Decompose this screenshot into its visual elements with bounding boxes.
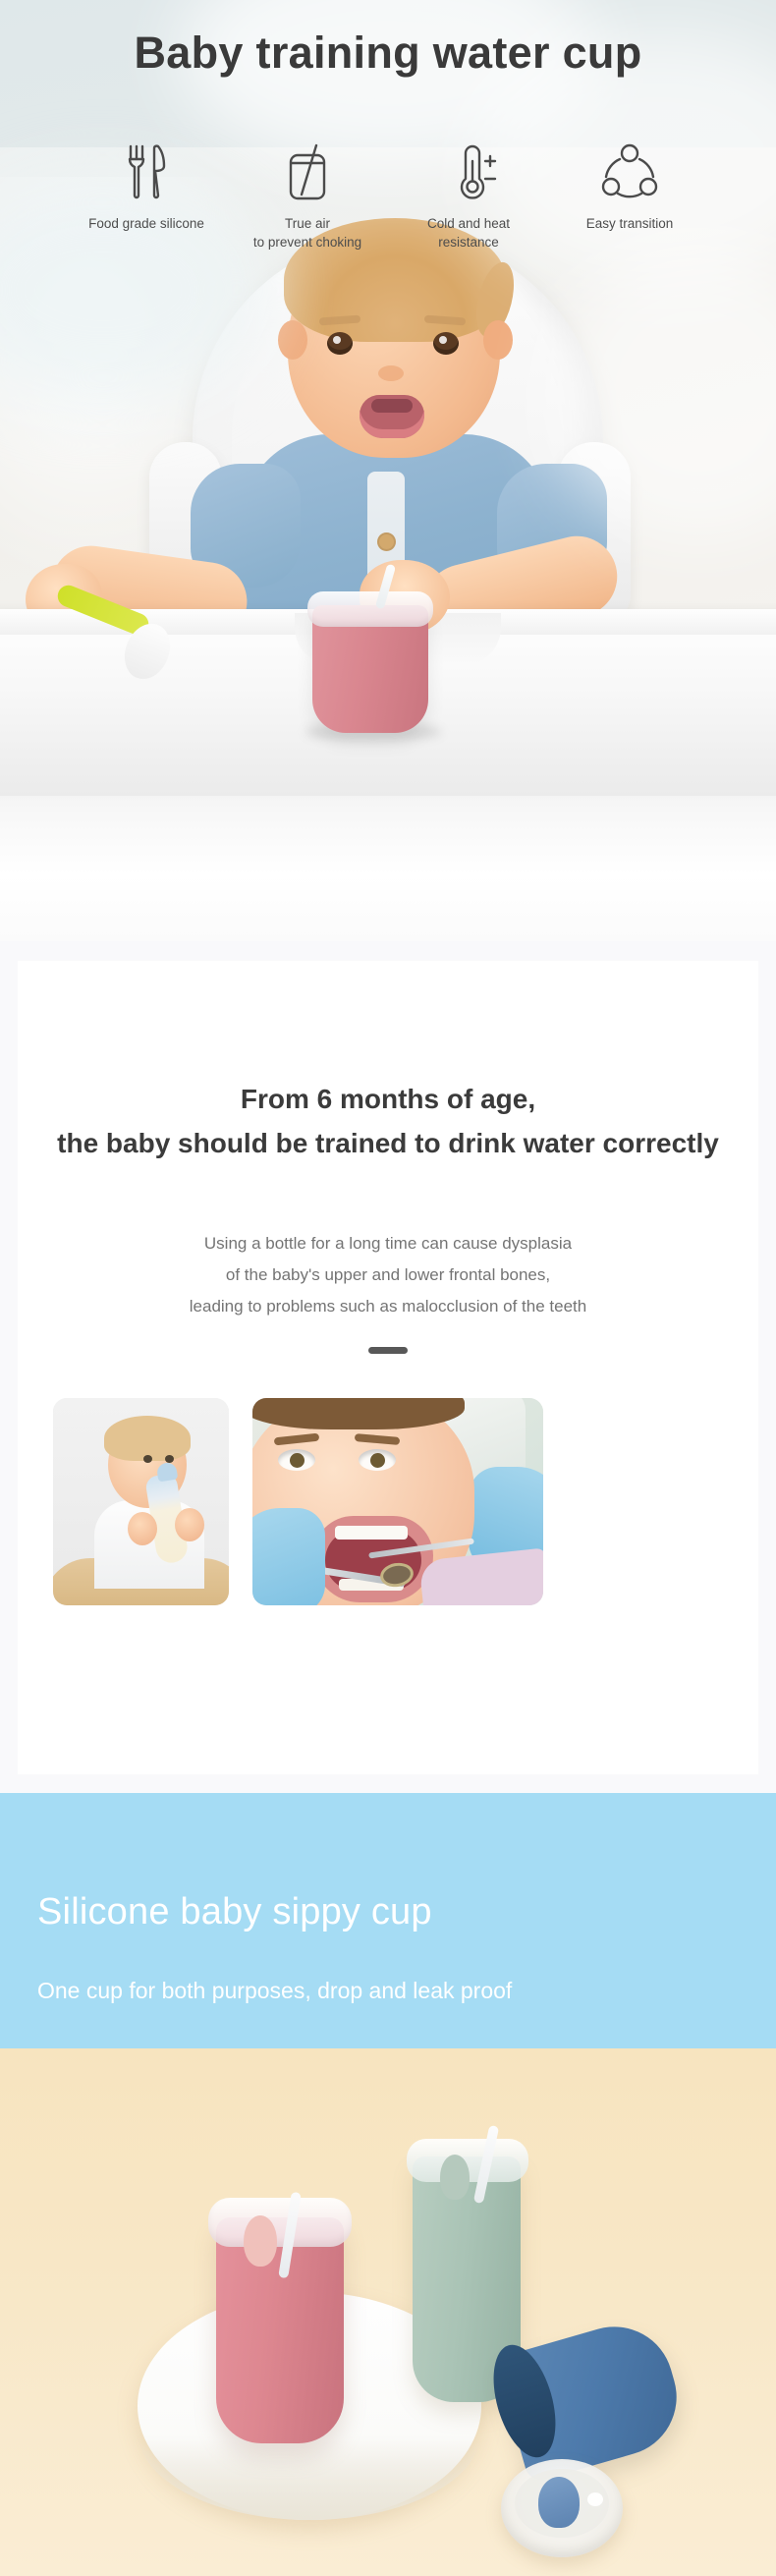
baby-ear-right <box>483 320 513 360</box>
info-heading: From 6 months of age, the baby should be… <box>18 1077 758 1165</box>
info-body-line3: leading to problems such as malocclusion… <box>18 1291 758 1322</box>
cycle-transition-icon <box>599 138 660 208</box>
baby-eye-left <box>143 1455 152 1463</box>
baby-eye-left <box>327 332 353 355</box>
dental-exam-photo <box>252 1398 543 1605</box>
hero-photo <box>0 147 776 941</box>
product-photo-section <box>0 2048 776 2576</box>
detached-lid-blue-valve <box>538 2477 580 2528</box>
baby-eye-right <box>433 332 459 355</box>
banner-subtitle: One cup for both purposes, drop and leak… <box>37 1978 512 2004</box>
section-divider <box>368 1347 408 1354</box>
feature-label: Cold and heat resistance <box>427 214 510 252</box>
pink-cup-valve <box>244 2215 277 2267</box>
baby-with-bottle-photo <box>53 1398 229 1605</box>
green-cup-valve <box>440 2155 470 2200</box>
dress-button <box>377 532 396 551</box>
pink-sippy-cup <box>216 2217 344 2443</box>
tray-front-panel <box>0 776 776 941</box>
baby-ear-left <box>278 320 307 360</box>
feature-label: Food grade silicone <box>88 214 204 233</box>
info-body-line1: Using a bottle for a long time can cause… <box>18 1228 758 1260</box>
feature-item-true-air: True air to prevent choking <box>234 138 381 252</box>
baby-eye-right <box>165 1455 174 1463</box>
info-heading-line2: the baby should be trained to drink wate… <box>18 1121 758 1165</box>
upper-teeth <box>335 1526 408 1540</box>
feature-label: True air to prevent choking <box>253 214 361 252</box>
feature-list: Food grade silicone True air to prevent … <box>0 138 776 252</box>
fork-knife-icon <box>121 138 172 208</box>
child-eye-right <box>359 1449 396 1471</box>
info-card: From 6 months of age, the baby should be… <box>18 961 758 1774</box>
banner-title: Silicone baby sippy cup <box>37 1891 432 1933</box>
product-detail-page: Baby training water cup Food grade silic… <box>0 0 776 2576</box>
cup-lid <box>307 591 433 627</box>
info-body: Using a bottle for a long time can cause… <box>18 1228 758 1322</box>
feature-label: Easy transition <box>586 214 674 233</box>
info-photo-row <box>53 1398 723 1605</box>
info-heading-line1: From 6 months of age, <box>18 1077 758 1121</box>
info-body-line2: of the baby's upper and lower frontal bo… <box>18 1260 758 1291</box>
baby-hand-left <box>128 1512 157 1545</box>
hero-section: Baby training water cup Food grade silic… <box>0 0 776 941</box>
thermometer-hot-cold-icon <box>440 138 497 208</box>
baby-open-mouth <box>360 395 424 438</box>
promo-banner: Silicone baby sippy cup One cup for both… <box>0 1793 776 2048</box>
pink-cup-lid <box>208 2198 352 2247</box>
feature-item-food-grade-silicone: Food grade silicone <box>73 138 220 252</box>
cup-with-straw-icon <box>280 138 335 208</box>
baby-nose <box>378 365 404 381</box>
baby-hand-right <box>175 1508 204 1541</box>
feature-item-easy-transition: Easy transition <box>556 138 703 252</box>
dentist-glove-left <box>252 1508 325 1605</box>
info-section: From 6 months of age, the baby should be… <box>0 941 776 1793</box>
child-eye-left <box>278 1449 315 1471</box>
page-title: Baby training water cup <box>0 28 776 79</box>
feature-item-cold-heat-resistance: Cold and heat resistance <box>395 138 542 252</box>
detached-lid-vent-hole <box>587 2492 603 2506</box>
